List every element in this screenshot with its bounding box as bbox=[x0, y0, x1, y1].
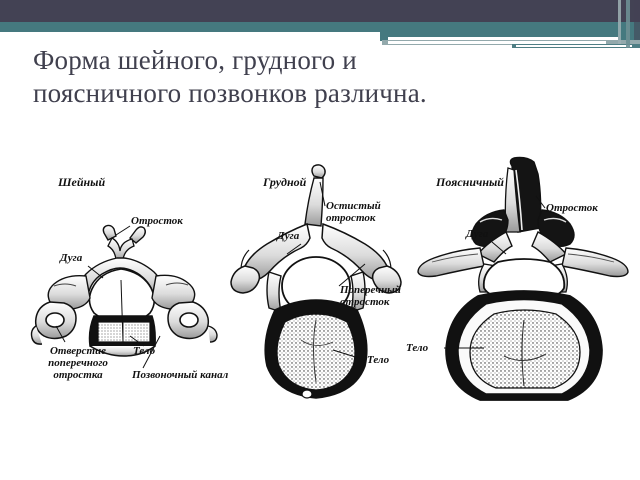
lumbar-leader-lines bbox=[408, 150, 640, 400]
panel-cervical: Шейный Отросток Дуга Отверстие поперечно… bbox=[20, 150, 230, 400]
header-band-dark bbox=[0, 0, 640, 22]
vertebrae-figure: Шейный Отросток Дуга Отверстие поперечно… bbox=[0, 150, 640, 400]
panel-lumbar: Поясничный Отросток Дуга Тело bbox=[408, 150, 640, 400]
header-white-notch bbox=[0, 32, 380, 44]
slide-canvas: Форма шейного, грудного и поясничного по… bbox=[0, 0, 640, 480]
header-accent-vertical-3 bbox=[634, 0, 640, 40]
thoracic-leader-lines bbox=[215, 150, 425, 400]
slide-title: Форма шейного, грудного и поясничного по… bbox=[33, 44, 613, 110]
panel-thoracic: Грудной Остистый отросток Дуга Поперечны… bbox=[215, 150, 425, 400]
header-accent-vertical-2 bbox=[626, 0, 630, 48]
header-accent-vertical-1 bbox=[618, 0, 621, 44]
header-band-teal bbox=[0, 22, 640, 32]
cervical-leader-lines bbox=[20, 150, 230, 400]
